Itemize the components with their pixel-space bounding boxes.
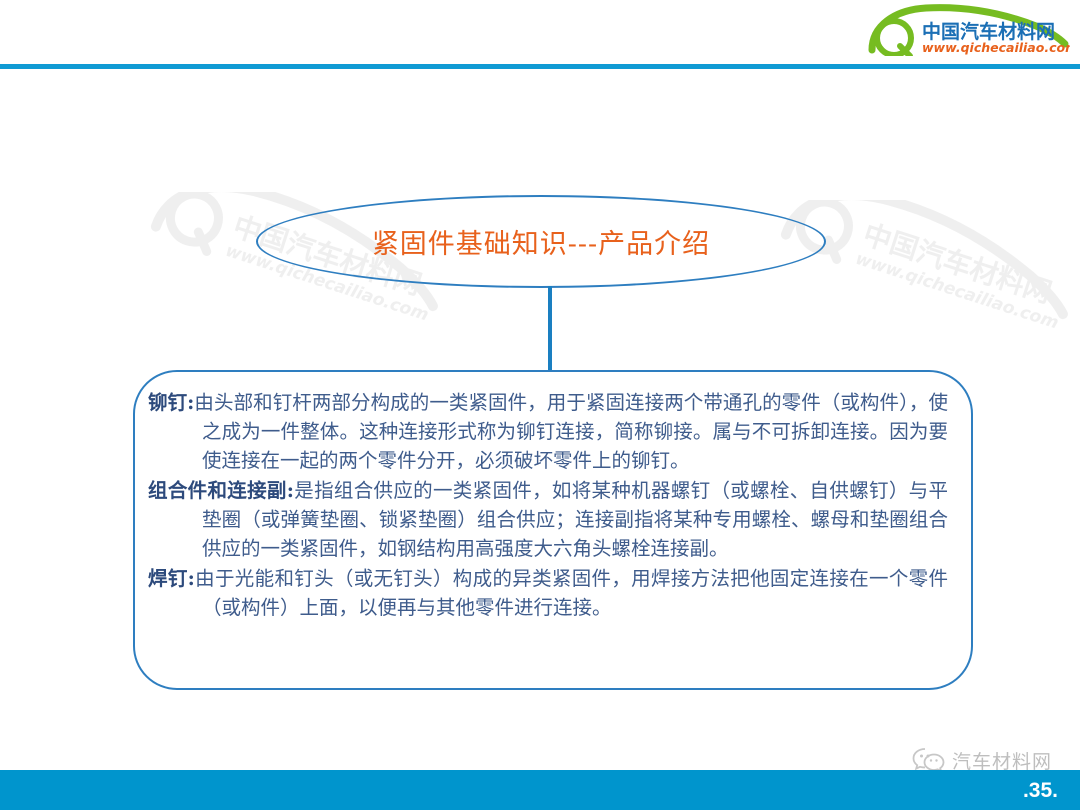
page-number: .35. <box>1023 779 1058 803</box>
definition-term: 铆钉 <box>148 391 187 414</box>
site-logo: 中国汽车材料网 www.qichecailiao.com <box>860 4 1070 56</box>
definition-paragraph: 焊钉:由于光能和钉头（或无钉头）构成的异类紧固件，用焊接方法把他固定连接在一个零… <box>148 564 948 622</box>
header-divider-rule <box>0 64 1080 69</box>
footer-bar <box>0 770 1080 810</box>
svg-text:www.qichecailiao.com: www.qichecailiao.com <box>853 249 1061 334</box>
definition-term: 组合件和连接副 <box>148 479 287 502</box>
svg-text:中国汽车材料网: 中国汽车材料网 <box>859 218 1056 310</box>
slide-canvas: 中国汽车材料网 www.qichecailiao.com 中国汽车材料网 www… <box>0 0 1080 810</box>
definition-paragraph: 组合件和连接副:是指组合供应的一类紧固件，如将某种机器螺钉（或螺栓、自供螺钉）与… <box>148 476 948 563</box>
page-title: 紧固件基础知识---产品介绍 <box>372 222 710 261</box>
connector-line <box>548 286 552 372</box>
title-ellipse-shape: 紧固件基础知识---产品介绍 <box>256 195 826 288</box>
definition-paragraph: 铆钉:由头部和钉杆两部分构成的一类紧固件，用于紧固连接两个带通孔的零件（或构件）… <box>148 388 948 475</box>
content-text-block: 铆钉:由头部和钉杆两部分构成的一类紧固件，用于紧固连接两个带通孔的零件（或构件）… <box>148 388 948 623</box>
definition-term: 焊钉 <box>148 567 188 590</box>
definition-body: 由于光能和钉头（或无钉头）构成的异类紧固件，用焊接方法把他固定连接在一个零件（或… <box>195 567 948 619</box>
definition-body: 由头部和钉杆两部分构成的一类紧固件，用于紧固连接两个带通孔的零件（或构件），使之… <box>194 391 948 472</box>
definition-separator: : <box>287 479 294 502</box>
definition-body: 是指组合供应的一类紧固件，如将某种机器螺钉（或螺栓、自供螺钉）与平垫圈（或弹簧垫… <box>202 479 948 560</box>
logo-brand-url: www.qichecailiao.com <box>922 40 1070 55</box>
definition-separator: : <box>188 567 195 590</box>
watermark-right: 中国汽车材料网 www.qichecailiao.com <box>770 200 1070 350</box>
